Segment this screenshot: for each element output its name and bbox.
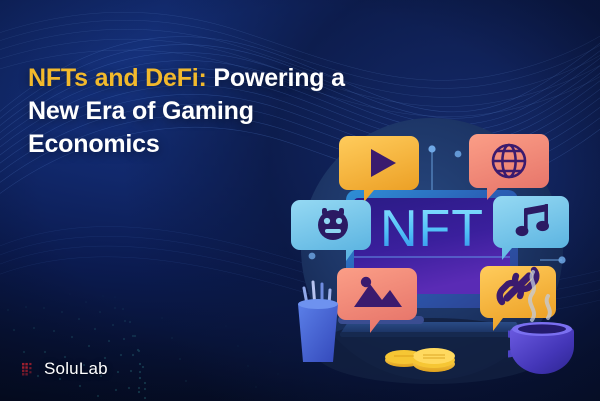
headline-accent: NFTs and DeFi: [28,64,207,92]
banner-canvas: NFTs and DeFi: Powering a New Era of Gam… [0,0,600,401]
globe-icon [493,145,525,177]
smiley-icon [318,208,348,240]
desk-edge [340,332,524,337]
brand-name: SoluLab [44,359,108,379]
solulab-mark-icon [22,362,37,377]
hero-illustration: NFT [286,108,578,390]
screen-nft-text: NFT [380,200,484,258]
brand-logo[interactable]: SoluLab [22,359,108,379]
